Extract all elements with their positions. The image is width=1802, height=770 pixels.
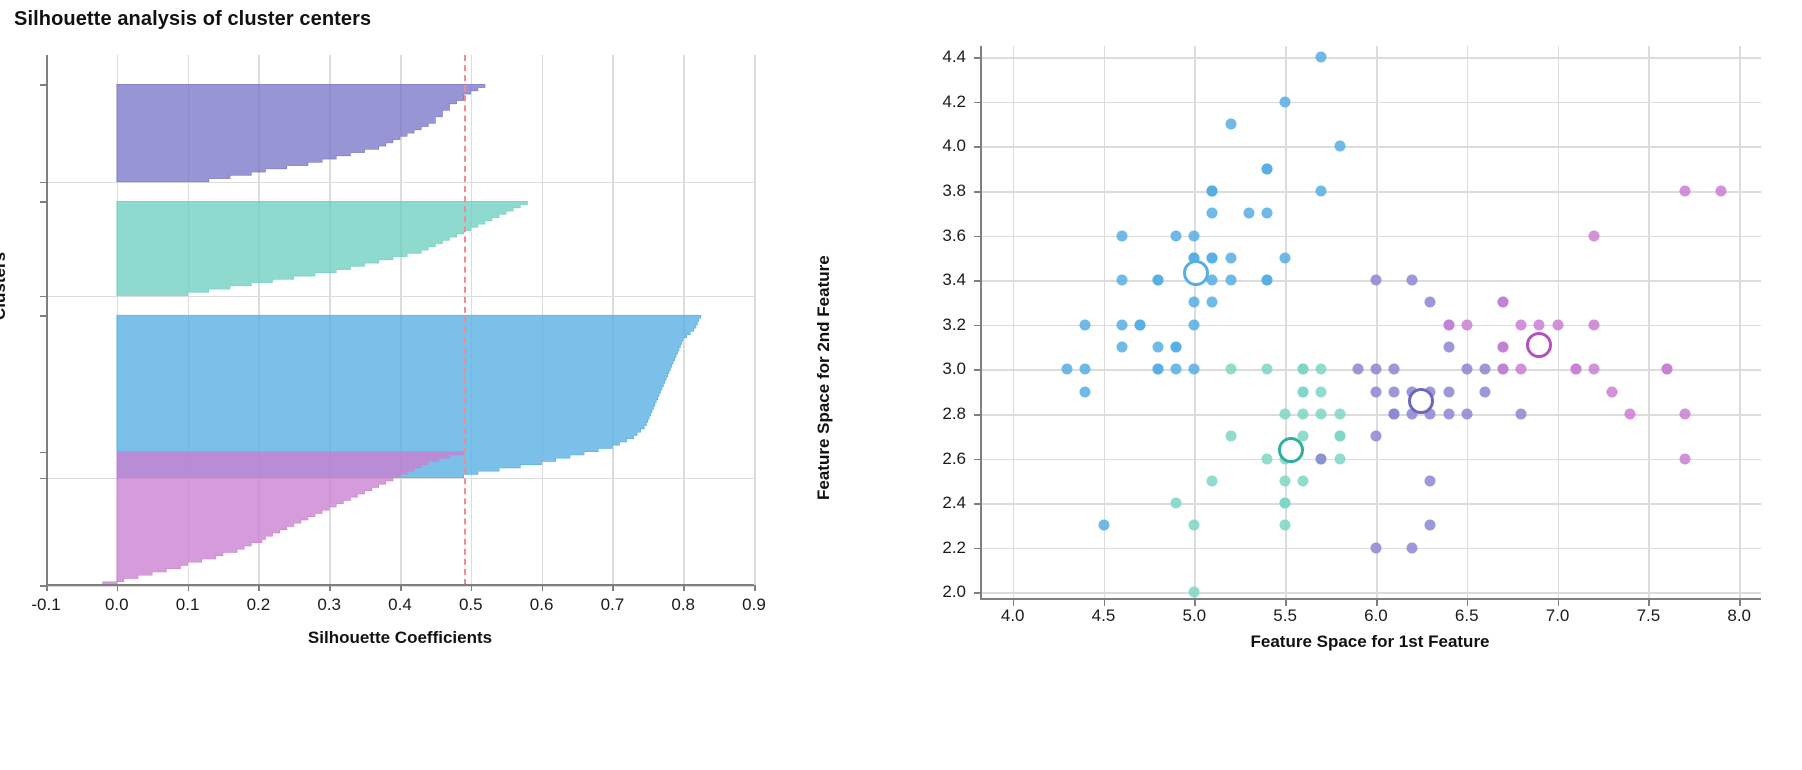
scatter-point	[1152, 275, 1163, 286]
scatter-point	[1152, 364, 1163, 375]
x-tick-label: 0.3	[317, 595, 341, 615]
scatter-point	[1461, 319, 1472, 330]
x-tick-mark	[683, 585, 685, 591]
silhouette-x-axis-title: Silhouette Coefficients	[308, 628, 492, 648]
scatter-point	[1207, 475, 1218, 486]
scatter-point	[1588, 230, 1599, 241]
y-tick-label: 3.4	[920, 270, 966, 290]
y-tick-label: 4.0	[920, 136, 966, 156]
scatter-point	[1516, 364, 1527, 375]
silhouette-band-cluster-1	[117, 201, 528, 295]
y-tick-label: 4.2	[920, 92, 966, 112]
y-tick-label: 3.6	[920, 226, 966, 246]
x-tick-mark	[612, 585, 614, 591]
x-tick-mark	[117, 585, 119, 591]
y-tick-mark	[974, 592, 980, 594]
scatter-point	[1280, 252, 1291, 263]
scatter-point	[1552, 319, 1563, 330]
scatter-point	[1189, 319, 1200, 330]
scatter-point	[1171, 364, 1182, 375]
x-tick-label: 6.0	[1364, 606, 1388, 626]
silhouette-plot-area	[46, 55, 754, 585]
scatter-point	[1280, 475, 1291, 486]
x-tick-label: 0.7	[601, 595, 625, 615]
scatter-point	[1588, 319, 1599, 330]
silhouette-y-axis	[46, 55, 48, 585]
scatter-point	[1207, 252, 1218, 263]
y-tick-label: 4.4	[920, 47, 966, 67]
scatter-point	[1116, 319, 1127, 330]
x-tick-mark	[188, 585, 190, 591]
x-tick-mark	[400, 585, 402, 591]
scatter-point	[1316, 185, 1327, 196]
scatter-point	[1498, 364, 1509, 375]
y-tick-mark	[40, 84, 46, 86]
scatter-x-axis-title: Feature Space for 1st Feature	[1250, 632, 1489, 652]
scatter-point	[1389, 408, 1400, 419]
scatter-point	[1225, 252, 1236, 263]
scatter-point	[1171, 498, 1182, 509]
scatter-point	[1498, 297, 1509, 308]
scatter-point	[1570, 364, 1581, 375]
scatter-point	[1171, 230, 1182, 241]
x-tick-label: 8.0	[1727, 606, 1751, 626]
scatter-point	[1370, 386, 1381, 397]
scatter-point	[1425, 520, 1436, 531]
scatter-point	[1116, 230, 1127, 241]
x-tick-label: 0.0	[105, 595, 129, 615]
scatter-point	[1152, 342, 1163, 353]
scatter-point	[1225, 431, 1236, 442]
x-tick-label: 7.0	[1546, 606, 1570, 626]
scatter-point	[1370, 364, 1381, 375]
x-tick-mark	[754, 585, 756, 591]
scatter-point	[1316, 52, 1327, 63]
scatter-point	[1588, 364, 1599, 375]
scatter-point	[1171, 342, 1182, 353]
scatter-point	[1443, 386, 1454, 397]
scatter-point	[1261, 364, 1272, 375]
scatter-point	[1280, 498, 1291, 509]
scatter-point	[1389, 386, 1400, 397]
scatter-point	[1479, 364, 1490, 375]
y-tick-mark	[40, 296, 46, 298]
scatter-point	[1316, 364, 1327, 375]
scatter-point	[1334, 453, 1345, 464]
x-tick-mark	[46, 585, 48, 591]
scatter-point	[1225, 119, 1236, 130]
y-tick-mark	[974, 236, 980, 238]
scatter-point	[1298, 364, 1309, 375]
scatter-point	[1316, 408, 1327, 419]
scatter-point	[1261, 163, 1272, 174]
scatter-y-axis	[980, 46, 982, 599]
scatter-point	[1370, 542, 1381, 553]
figure-canvas: Silhouette analysis of cluster centers -…	[0, 0, 1802, 770]
y-tick-label: 3.8	[920, 181, 966, 201]
scatter-point	[1607, 386, 1618, 397]
scatter-point	[1425, 475, 1436, 486]
x-tick-label: 5.5	[1273, 606, 1297, 626]
scatter-point	[1280, 96, 1291, 107]
scatter-point	[1298, 408, 1309, 419]
x-tick-mark	[542, 585, 544, 591]
y-tick-mark	[974, 503, 980, 505]
y-tick-label: 2.0	[920, 582, 966, 602]
y-tick-mark	[974, 548, 980, 550]
silhouette-band-group	[46, 55, 754, 585]
x-tick-label: 6.5	[1455, 606, 1479, 626]
x-tick-label: 4.5	[1092, 606, 1116, 626]
y-tick-label: 3.2	[920, 315, 966, 335]
x-tick-label: 7.5	[1637, 606, 1661, 626]
scatter-point	[1425, 297, 1436, 308]
scatter-point	[1679, 408, 1690, 419]
scatter-point	[1352, 364, 1363, 375]
y-tick-mark	[40, 478, 46, 480]
y-tick-mark	[974, 369, 980, 371]
scatter-point	[1207, 185, 1218, 196]
scatter-point	[1516, 319, 1527, 330]
scatter-points-layer	[980, 46, 1761, 599]
x-tick-label: -0.1	[31, 595, 60, 615]
x-tick-mark	[329, 585, 331, 591]
scatter-point	[1189, 230, 1200, 241]
scatter-point	[1389, 364, 1400, 375]
silhouette-bands	[46, 55, 754, 585]
scatter-point	[1498, 342, 1509, 353]
y-tick-mark	[40, 182, 46, 184]
scatter-point	[1298, 386, 1309, 397]
y-tick-label: 3.0	[920, 359, 966, 379]
scatter-y-axis-title: Feature Space for 2nd Feature	[814, 255, 834, 500]
silhouette-panel: -0.10.00.10.20.30.40.50.60.70.80.9 Silho…	[0, 0, 790, 770]
x-tick-label: 0.4	[388, 595, 412, 615]
x-tick-label: 0.5	[459, 595, 483, 615]
x-tick-mark	[258, 585, 260, 591]
scatter-plot-area	[980, 46, 1761, 599]
scatter-point	[1207, 297, 1218, 308]
scatter-point	[1189, 587, 1200, 598]
scatter-point	[1661, 364, 1672, 375]
scatter-point	[1443, 319, 1454, 330]
y-tick-mark	[974, 459, 980, 461]
y-tick-mark	[974, 414, 980, 416]
scatter-point	[1407, 542, 1418, 553]
scatter-point	[1461, 364, 1472, 375]
scatter-point	[1207, 208, 1218, 219]
scatter-point	[1443, 408, 1454, 419]
scatter-point	[1334, 408, 1345, 419]
y-tick-label: 2.6	[920, 449, 966, 469]
scatter-point	[1461, 408, 1472, 419]
y-tick-mark	[974, 191, 980, 193]
scatter-point	[1625, 408, 1636, 419]
x-tick-label: 4.0	[1001, 606, 1025, 626]
scatter-point	[1334, 431, 1345, 442]
scatter-point	[1189, 520, 1200, 531]
average-silhouette-line	[464, 55, 466, 585]
x-tick-label: 0.8	[671, 595, 695, 615]
scatter-point	[1679, 185, 1690, 196]
scatter-point	[1443, 342, 1454, 353]
scatter-point	[1679, 453, 1690, 464]
scatter-point	[1261, 275, 1272, 286]
y-tick-label: 2.2	[920, 538, 966, 558]
scatter-point	[1280, 408, 1291, 419]
y-tick-mark	[974, 57, 980, 59]
scatter-point	[1062, 364, 1073, 375]
scatter-point	[1716, 185, 1727, 196]
silhouette-band-cluster-0	[117, 84, 485, 182]
y-tick-label: 2.4	[920, 493, 966, 513]
scatter-point	[1516, 408, 1527, 419]
scatter-point	[1370, 431, 1381, 442]
scatter-point	[1098, 520, 1109, 531]
scatter-point	[1134, 319, 1145, 330]
scatter-point	[1080, 386, 1091, 397]
scatter-panel: 4.04.55.05.56.06.57.07.58.0 2.02.22.42.6…	[790, 0, 1802, 770]
scatter-point	[1370, 275, 1381, 286]
y-tick-mark	[40, 315, 46, 317]
gridline-vertical	[754, 55, 756, 585]
x-tick-mark	[471, 585, 473, 591]
x-tick-label: 0.6	[530, 595, 554, 615]
scatter-point	[1080, 364, 1091, 375]
y-tick-mark	[974, 102, 980, 104]
scatter-point	[1261, 453, 1272, 464]
scatter-point	[1116, 275, 1127, 286]
y-tick-mark	[40, 452, 46, 454]
scatter-point	[1479, 386, 1490, 397]
scatter-point	[1225, 364, 1236, 375]
x-tick-label: 0.2	[247, 595, 271, 615]
scatter-point	[1116, 342, 1127, 353]
scatter-point	[1189, 364, 1200, 375]
scatter-point	[1298, 475, 1309, 486]
scatter-point	[1225, 275, 1236, 286]
y-tick-mark	[974, 146, 980, 148]
scatter-point	[1316, 386, 1327, 397]
scatter-point	[1280, 520, 1291, 531]
scatter-point	[1334, 141, 1345, 152]
scatter-point	[1407, 275, 1418, 286]
y-tick-mark	[974, 280, 980, 282]
x-tick-label: 5.0	[1182, 606, 1206, 626]
scatter-point	[1316, 453, 1327, 464]
x-tick-label: 0.9	[742, 595, 766, 615]
scatter-x-axis	[980, 598, 1761, 600]
silhouette-y-axis-title: Clusters	[0, 252, 10, 320]
scatter-point	[1534, 319, 1545, 330]
x-tick-label: 0.1	[176, 595, 200, 615]
scatter-point	[1189, 297, 1200, 308]
scatter-point	[1261, 208, 1272, 219]
y-tick-mark	[40, 201, 46, 203]
y-tick-label: 2.8	[920, 404, 966, 424]
y-tick-mark	[974, 325, 980, 327]
scatter-point	[1243, 208, 1254, 219]
scatter-point	[1080, 319, 1091, 330]
